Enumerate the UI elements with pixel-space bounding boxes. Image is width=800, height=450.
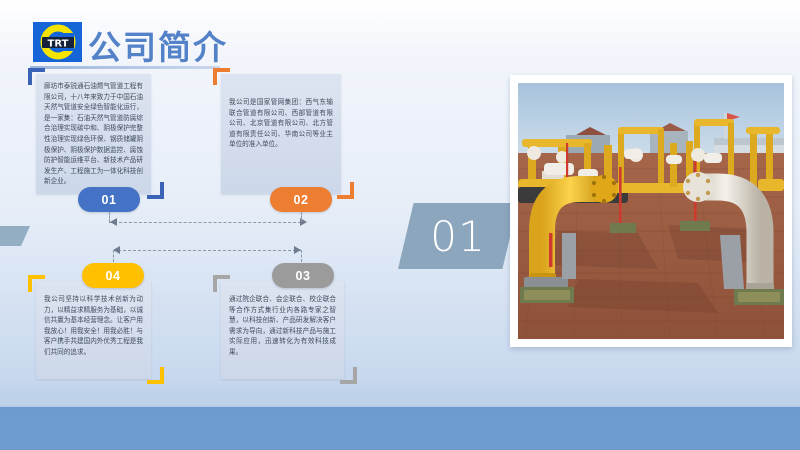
card-03-bracket-top-left <box>213 275 230 292</box>
photo-frame <box>510 75 792 347</box>
info-card-01-text: 廊坊市泰锐通石油燃气管道工程有限公司，十八年来致力于中国石油天然气管道安全绿色智… <box>44 82 143 188</box>
info-card-01[interactable]: 廊坊市泰锐通石油燃气管道工程有限公司，十八年来致力于中国石油天然气管道安全绿色智… <box>36 74 151 194</box>
info-card-02[interactable]: 我公司是国家管网集团：西气东输联合管道有限公司、西部管道有限公司、北京管道有限公… <box>221 74 341 194</box>
card-03-bracket-bottom-right <box>340 367 357 384</box>
connector-arrow-to-03 <box>294 246 301 254</box>
info-card-04-text: 我公司坚持以科学技术创新为动力，以精益求精服务为基础，以诚信共赢为基本经营理念。… <box>44 295 143 359</box>
accent-shape-left <box>0 226 30 246</box>
connector-arrow-to-04 <box>113 246 120 254</box>
bottom-band <box>0 407 800 450</box>
connector-03-to-04 <box>113 250 301 251</box>
info-card-04[interactable]: 我公司坚持以科学技术创新为动力，以精益求精服务为基础，以诚信共赢为基本经营理念。… <box>36 281 151 379</box>
title-underline <box>30 66 220 69</box>
svg-text:TRT: TRT <box>47 38 68 49</box>
connector-01-to-02 <box>109 222 301 223</box>
badge-04[interactable]: 04 <box>82 263 144 288</box>
slide: TRT 公司简介 廊坊市泰锐通石油燃气管道工程有限公司，十八年来致力于中国石油天… <box>0 0 800 450</box>
connector-arrow-to-01 <box>110 218 117 226</box>
badge-03[interactable]: 03 <box>272 263 334 288</box>
trt-logo-icon: TRT <box>33 22 82 62</box>
card-04-bracket-bottom-right <box>147 367 164 384</box>
gas-pipeline-station-photo <box>518 83 784 339</box>
card-01-bracket-bottom-right <box>147 182 164 199</box>
connector-04-up <box>113 250 114 262</box>
connector-02-down <box>301 212 302 222</box>
badge-01[interactable]: 01 <box>78 187 140 212</box>
card-02-bracket-top-left <box>213 68 230 85</box>
info-card-02-text: 我公司是国家管网集团：西气东输联合管道有限公司、西部管道有限公司、北京管道有限公… <box>229 98 333 151</box>
page-title: 公司简介 <box>88 21 228 69</box>
card-01-bracket-top-left <box>28 68 45 85</box>
connector-03-up <box>301 250 302 262</box>
info-card-03-text: 通过院企联合、会企联合、校企联合等合作方式集行业内各路专家之智慧，以科技创新、产… <box>229 295 336 359</box>
card-04-bracket-top-left <box>28 275 45 292</box>
card-02-bracket-bottom-right <box>337 182 354 199</box>
section-number: 01 <box>398 203 518 269</box>
info-card-03[interactable]: 通过院企联合、会企联合、校企联合等合作方式集行业内各路专家之智慧，以科技创新、产… <box>221 281 344 379</box>
badge-02[interactable]: 02 <box>270 187 332 212</box>
